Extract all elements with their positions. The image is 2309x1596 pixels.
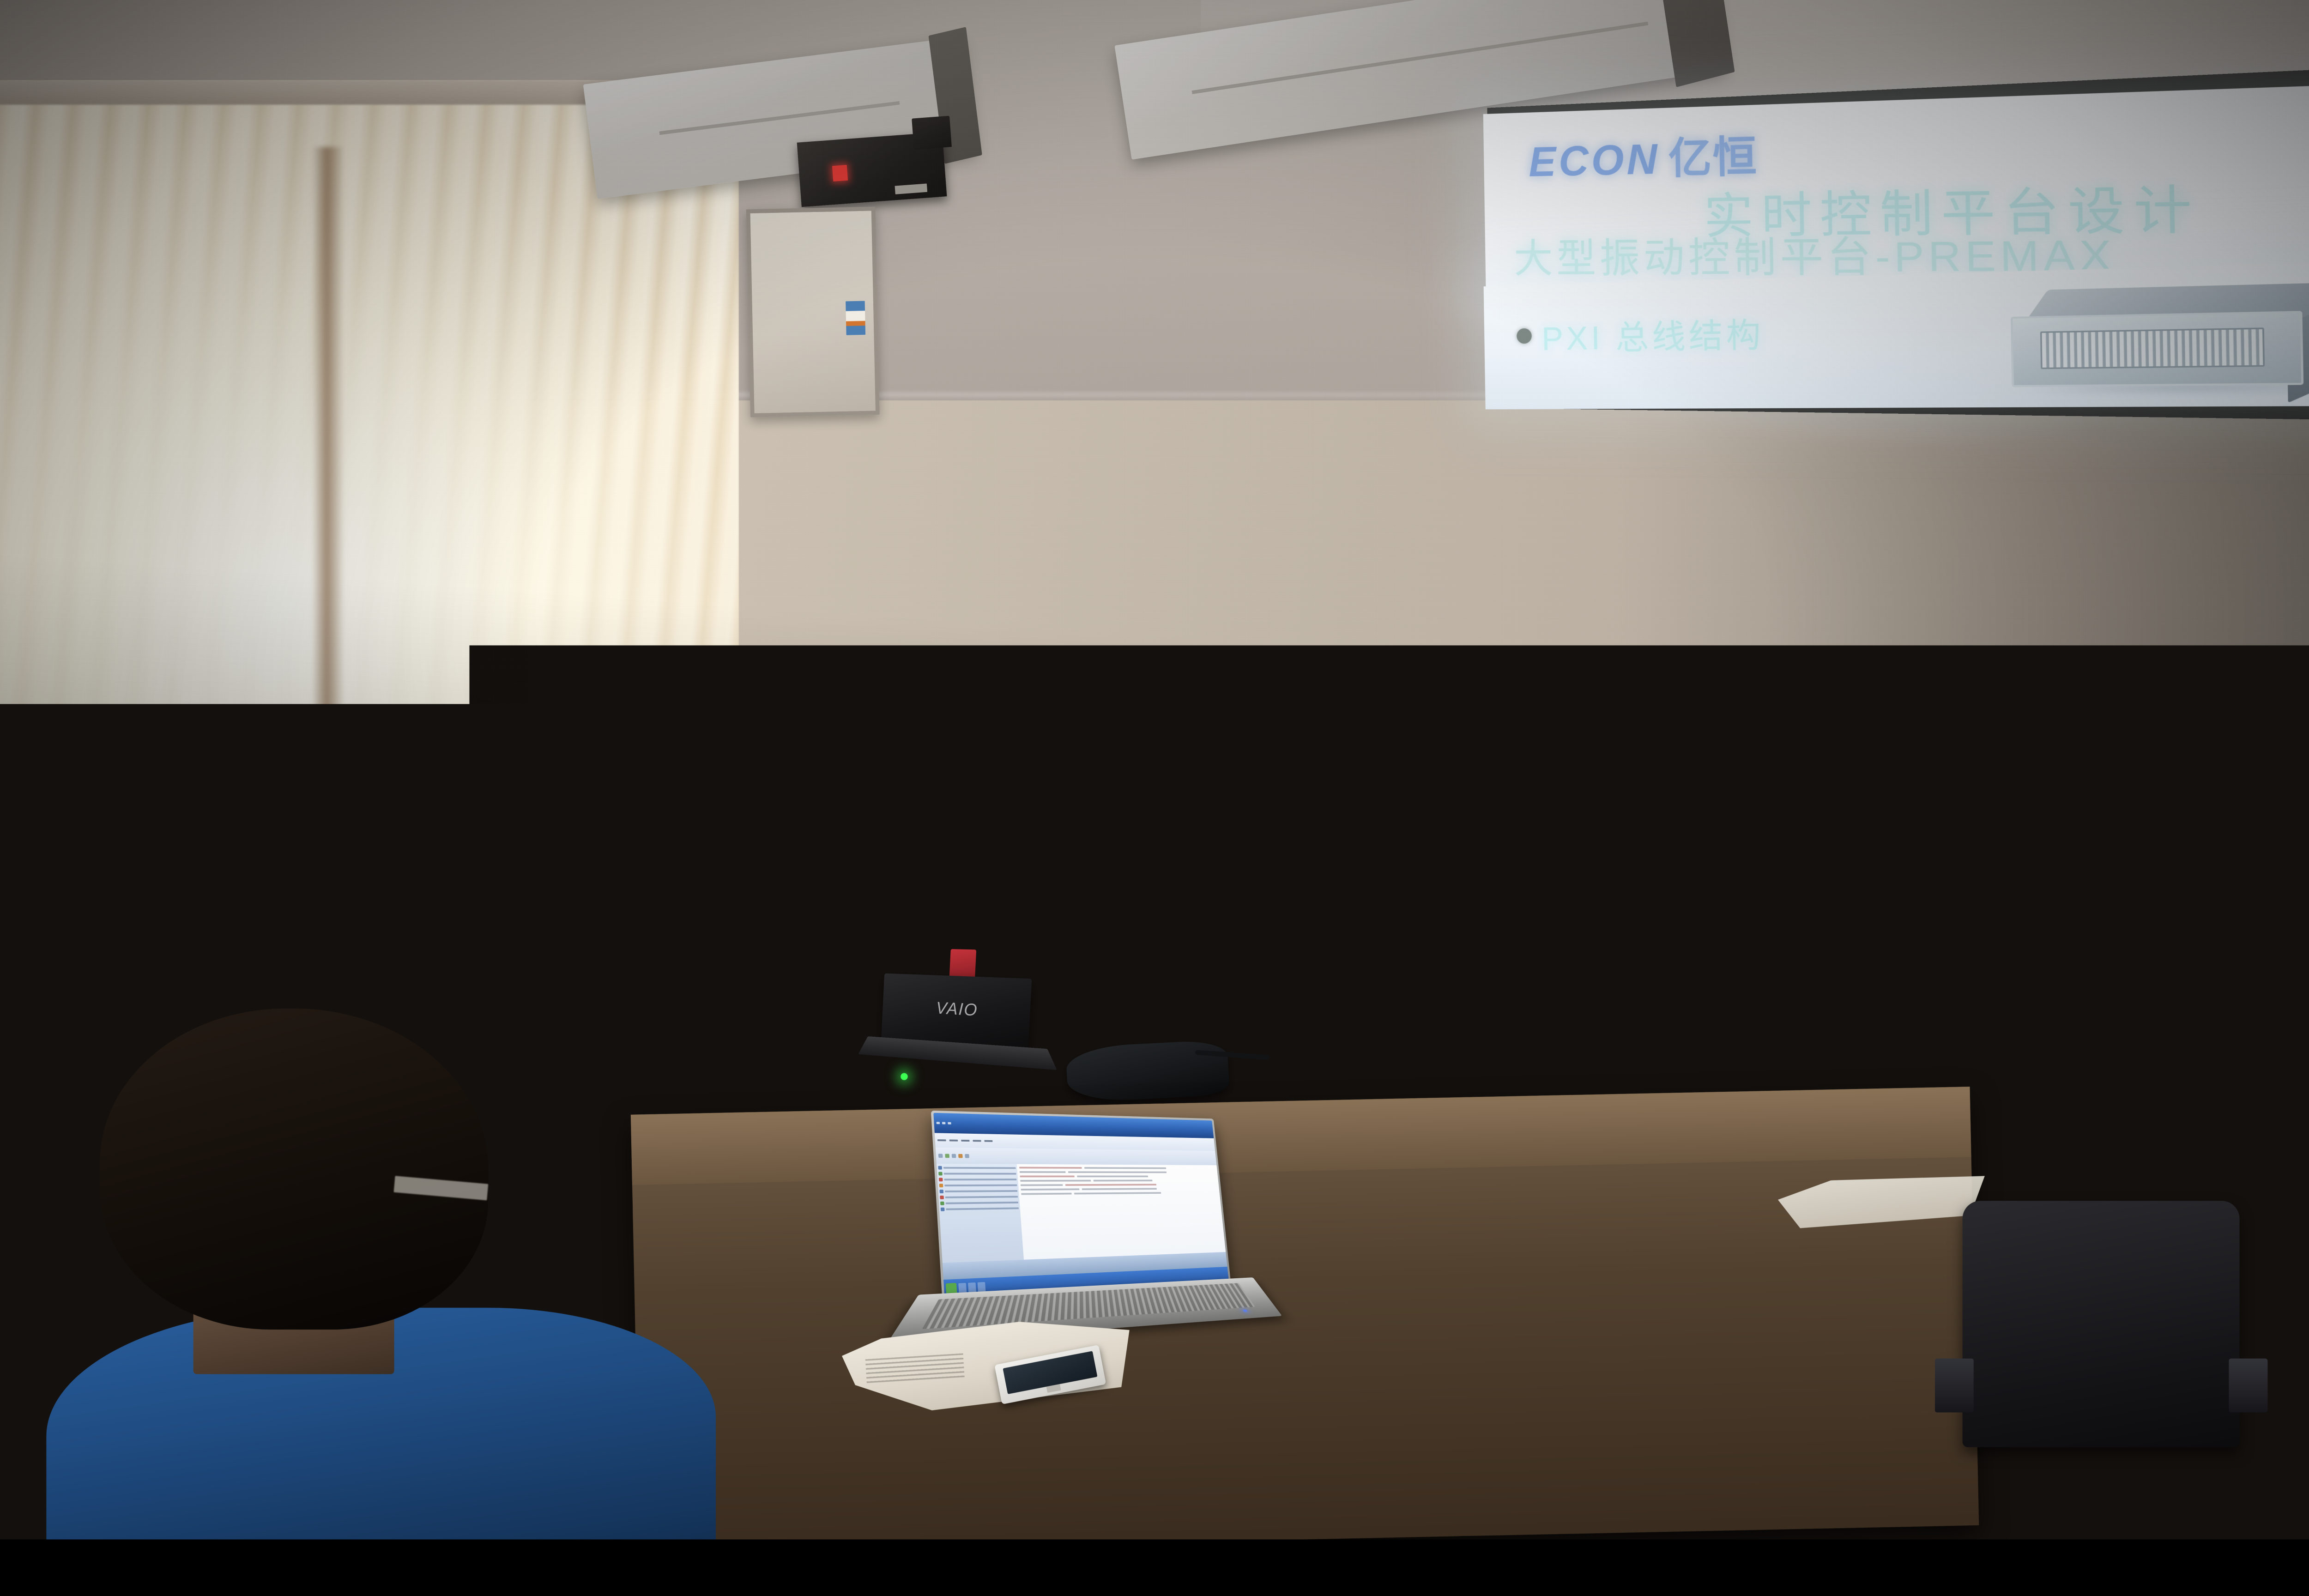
- chair-armrest: [69, 944, 85, 965]
- attendee-foreground-right: [1189, 870, 1870, 1539]
- bullet-marker-icon: [1517, 328, 1532, 344]
- content-row: [1019, 1167, 1215, 1169]
- sidebar-item[interactable]: [940, 1190, 1018, 1194]
- shirt-texture: [1189, 1036, 1870, 1539]
- speaker-power-led: [832, 165, 848, 181]
- red-desk-object: [949, 949, 976, 979]
- sidebar-item[interactable]: [940, 1195, 1018, 1199]
- sidebar-item-label: [946, 1202, 1018, 1205]
- menu-item[interactable]: [961, 1140, 970, 1142]
- chair: [1963, 1201, 2240, 1447]
- chair: [1893, 947, 2060, 1093]
- menu-item[interactable]: [985, 1140, 993, 1142]
- silver-laptop[interactable]: [931, 1111, 1231, 1301]
- toolbar-button[interactable]: [952, 1154, 956, 1158]
- slide-bullet-item: PXI 总线结构: [1517, 307, 1765, 360]
- projection-screen-upper: ECON亿恒 实时控制平台设计 大型振动控制平台-PREMAX: [1483, 81, 2309, 294]
- head: [100, 1008, 488, 1330]
- presenter: [600, 651, 813, 1013]
- sidebar-item-label: [945, 1196, 1018, 1198]
- laptop-lid: [931, 1111, 1231, 1301]
- window-control-icon[interactable]: [948, 1122, 951, 1124]
- app-toolbar[interactable]: [936, 1148, 1217, 1166]
- sidebar-item-label: [945, 1191, 1017, 1193]
- sidebar-item[interactable]: [939, 1178, 1016, 1182]
- cup-with-plant: [457, 885, 494, 925]
- glasses-icon: [266, 840, 307, 852]
- sidebar-item[interactable]: [939, 1172, 1016, 1176]
- content-row: [1021, 1184, 1217, 1186]
- window-control-icon[interactable]: [937, 1122, 940, 1124]
- clip-microphone-icon: [685, 868, 704, 890]
- sidebar-item[interactable]: [939, 1184, 1017, 1187]
- attendee-back-left: [185, 800, 342, 977]
- troffer-housing-edge: [1657, 0, 1735, 87]
- toolbar-button[interactable]: [945, 1154, 950, 1158]
- sidebar-item-icon: [938, 1166, 943, 1170]
- glasses-icon: [736, 698, 774, 714]
- window-control-icon[interactable]: [942, 1122, 945, 1124]
- sidebar-item[interactable]: [941, 1207, 1019, 1211]
- pxi-body: [2011, 311, 2303, 387]
- slide-logo-latin: ECON: [1529, 136, 1661, 185]
- menu-item[interactable]: [949, 1140, 958, 1142]
- chair-armrest: [2279, 1042, 2304, 1078]
- sidebar-item-icon: [939, 1178, 943, 1182]
- pxi-front-vents: [2041, 327, 2265, 369]
- speaker-bracket: [912, 115, 952, 149]
- app-sidebar[interactable]: [937, 1164, 1024, 1263]
- vaio-logo: VAIO: [936, 999, 978, 1020]
- chair-armrest: [524, 931, 540, 952]
- chair-armrest: [2229, 1358, 2267, 1412]
- app-body: [937, 1164, 1226, 1263]
- menu-item[interactable]: [973, 1140, 981, 1142]
- shoulder-seam: [1448, 1077, 1449, 1396]
- sidebar-item-label: [945, 1185, 1017, 1187]
- sidebar-item-icon: [939, 1172, 943, 1176]
- head: [1284, 870, 1591, 1077]
- document-text-block: [865, 1354, 965, 1384]
- laptop-screen[interactable]: [934, 1113, 1229, 1299]
- fluorescent-lamp: [659, 103, 900, 135]
- chair-armrest: [1935, 1358, 1974, 1412]
- torso: [185, 871, 342, 981]
- attendee-foreground-left: [46, 1008, 716, 1539]
- chair: [323, 870, 453, 970]
- chair-armrest: [447, 934, 465, 956]
- desk-status-led: [901, 1073, 907, 1080]
- slide-logo-cn: 亿恒: [1668, 133, 1758, 182]
- toolbar-button[interactable]: [938, 1154, 943, 1158]
- sidebar-item-icon: [939, 1184, 943, 1188]
- sidebar-item[interactable]: [938, 1166, 1016, 1170]
- vaio-laptop: VAIO: [881, 973, 1032, 1052]
- chair: [2101, 939, 2286, 1100]
- content-row: [1021, 1188, 1218, 1191]
- wall-speaker: [797, 132, 946, 207]
- sidebar-item-icon: [940, 1202, 944, 1205]
- fluorescent-lamp: [659, 101, 900, 133]
- content-row: [1020, 1172, 1216, 1173]
- pxi-chassis-image: [2010, 281, 2309, 391]
- fluorescent-lamp: [1192, 23, 1649, 94]
- content-row: [1021, 1192, 1218, 1195]
- sidebar-item-icon: [940, 1196, 944, 1200]
- whiteboard-panel: [746, 206, 879, 417]
- speaker-label: [895, 183, 927, 194]
- sidebar-item[interactable]: [940, 1201, 1018, 1206]
- chair-armrest: [2053, 1040, 2076, 1073]
- conference-room-scene: ECON亿恒 实时控制平台设计 大型振动控制平台-PREMAX PXI 总线结构: [0, 0, 2309, 1539]
- chair-armrest: [1877, 1040, 1900, 1073]
- sidebar-item-icon: [941, 1208, 945, 1211]
- menu-item[interactable]: [937, 1139, 946, 1141]
- plant-icon: [462, 869, 489, 889]
- shirt-stripe-pattern: [600, 742, 813, 1031]
- presentation-clicker: [856, 794, 887, 823]
- content-row: [1020, 1176, 1216, 1178]
- chair-armrest: [2083, 1042, 2109, 1078]
- slide-bullet-text: PXI 总线结构: [1541, 307, 1765, 359]
- toolbar-button[interactable]: [965, 1154, 970, 1158]
- chair: [81, 885, 201, 978]
- sidebar-item-label: [944, 1173, 1016, 1175]
- sidebar-item-label: [946, 1208, 1019, 1210]
- glasses-lens-icon: [1216, 1033, 1271, 1070]
- whiteboard-sticker: [845, 301, 865, 335]
- sidebar-item-icon: [940, 1190, 944, 1194]
- sidebar-item-label: [944, 1179, 1017, 1181]
- toolbar-button[interactable]: [958, 1154, 963, 1158]
- sidebar-item-label: [943, 1167, 1015, 1169]
- content-row: [1020, 1180, 1216, 1182]
